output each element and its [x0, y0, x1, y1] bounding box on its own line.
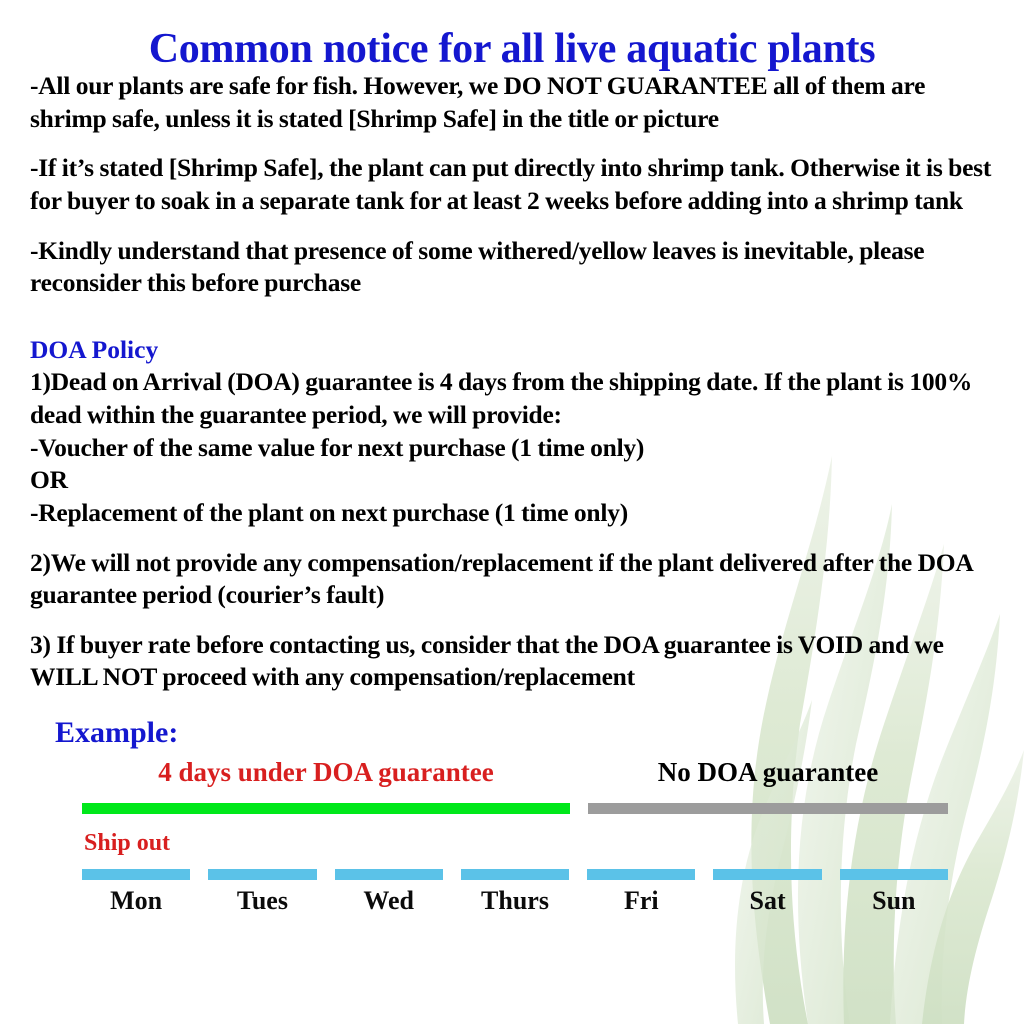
- covered-period-bar: [82, 803, 570, 814]
- doa-policy-heading: DOA Policy: [30, 334, 994, 367]
- doa-item-voucher: -Voucher of the same value for next purc…: [30, 432, 994, 465]
- day-label-wed: Wed: [335, 885, 443, 916]
- notice-page: Common notice for all live aquatic plant…: [0, 0, 1024, 1024]
- notice-body: -All our plants are safe for fish. Howev…: [30, 70, 994, 694]
- example-heading: Example:: [55, 716, 1024, 749]
- timeline-period-labels: 4 days under DOA guarantee No DOA guaran…: [0, 759, 1024, 799]
- example-diagram: Example: 4 days under DOA guarantee No D…: [0, 716, 1024, 921]
- day-bar-sat: [713, 869, 821, 880]
- day-bar-sun: [840, 869, 948, 880]
- day-label-sat: Sat: [713, 885, 821, 916]
- notice-paragraph-2: -If it’s stated [Shrimp Safe], the plant…: [30, 152, 994, 217]
- notice-paragraph-1: -All our plants are safe for fish. Howev…: [30, 70, 994, 135]
- day-label-thurs: Thurs: [461, 885, 569, 916]
- day-bar-mon: [82, 869, 190, 880]
- day-bar-thurs: [461, 869, 569, 880]
- page-title: Common notice for all live aquatic plant…: [0, 0, 1024, 70]
- timeline-period-bars: [0, 803, 1024, 815]
- day-bars-track: [0, 869, 1024, 881]
- day-label-tues: Tues: [208, 885, 316, 916]
- uncovered-period-bar: [588, 803, 948, 814]
- day-names-row: MonTuesWedThursFriSatSun: [0, 885, 1024, 921]
- day-label-sun: Sun: [840, 885, 948, 916]
- ship-out-row: Ship out: [0, 831, 1024, 865]
- ship-out-label: Ship out: [84, 831, 170, 855]
- day-bar-fri: [587, 869, 695, 880]
- section-spacer: [30, 317, 994, 323]
- day-label-fri: Fri: [587, 885, 695, 916]
- uncovered-period-label: No DOA guarantee: [588, 759, 948, 786]
- doa-item-replacement: -Replacement of the plant on next purcha…: [30, 497, 994, 530]
- doa-item-or: OR: [30, 464, 994, 497]
- doa-item-2: 2)We will not provide any compensation/r…: [30, 547, 994, 612]
- notice-paragraph-3: -Kindly understand that presence of some…: [30, 235, 994, 300]
- doa-item-3: 3) If buyer rate before contacting us, c…: [30, 629, 994, 694]
- covered-period-label: 4 days under DOA guarantee: [82, 759, 570, 786]
- doa-item-1: 1)Dead on Arrival (DOA) guarantee is 4 d…: [30, 366, 994, 431]
- day-bar-tues: [208, 869, 316, 880]
- day-label-mon: Mon: [82, 885, 190, 916]
- day-bar-wed: [335, 869, 443, 880]
